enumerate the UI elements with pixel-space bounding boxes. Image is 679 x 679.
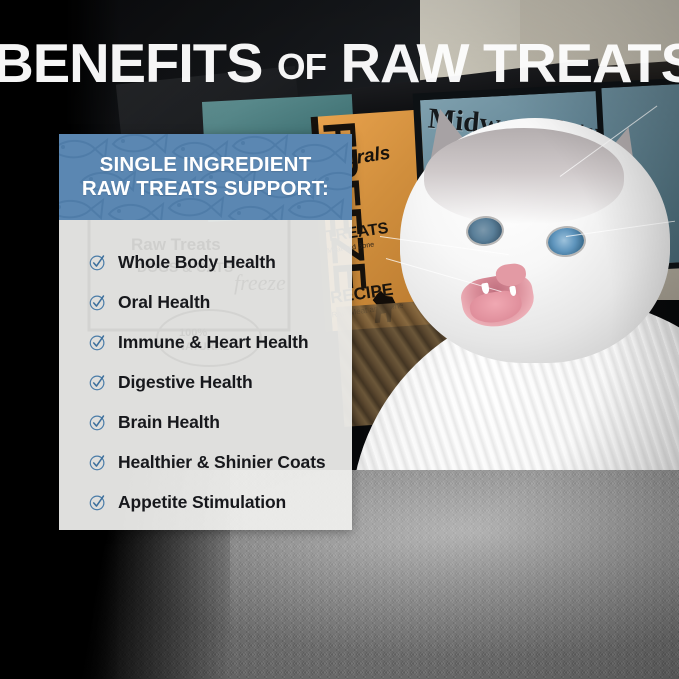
benefit-item: Whole Body Health	[59, 242, 352, 282]
card-body: Raw Treats DOGS & CATS 100% NATURAL free…	[59, 220, 352, 530]
benefit-item: Appetite Stimulation	[59, 482, 352, 522]
title-part-of: OF	[277, 46, 326, 87]
benefit-label: Healthier & Shinier Coats	[118, 452, 326, 473]
benefit-label: Oral Health	[118, 292, 210, 313]
card-header: SINGLE INGREDIENT RAW TREATS SUPPORT:	[59, 134, 352, 220]
benefit-label: Appetite Stimulation	[118, 492, 286, 513]
benefit-item: Immune & Heart Health	[59, 322, 352, 362]
check-circle-icon	[89, 454, 106, 471]
benefit-item: Digestive Health	[59, 362, 352, 402]
benefits-card: SINGLE INGREDIENT RAW TREATS SUPPORT: Ra…	[59, 134, 352, 530]
benefit-item: Healthier & Shinier Coats	[59, 442, 352, 482]
check-circle-icon	[89, 334, 106, 351]
benefit-label: Digestive Health	[118, 372, 253, 393]
card-header-title: SINGLE INGREDIENT RAW TREATS SUPPORT:	[82, 153, 329, 201]
poster-image: Naturals FREEZE TREATS Meat and Bone REC…	[0, 0, 679, 679]
check-circle-icon	[89, 254, 106, 271]
check-circle-icon	[89, 294, 106, 311]
title-part-benefits: BENEFITS	[0, 32, 262, 94]
title-part-raw-treats: RAW TREATS	[341, 32, 679, 94]
check-circle-icon	[89, 374, 106, 391]
benefit-label: Immune & Heart Health	[118, 332, 308, 353]
check-circle-icon	[89, 494, 106, 511]
benefit-item: Brain Health	[59, 402, 352, 442]
benefit-label: Brain Health	[118, 412, 220, 433]
benefit-item: Oral Health	[59, 282, 352, 322]
benefit-label: Whole Body Health	[118, 252, 276, 273]
check-circle-icon	[89, 414, 106, 431]
page-title: BENEFITS OF RAW TREATS	[0, 36, 679, 91]
